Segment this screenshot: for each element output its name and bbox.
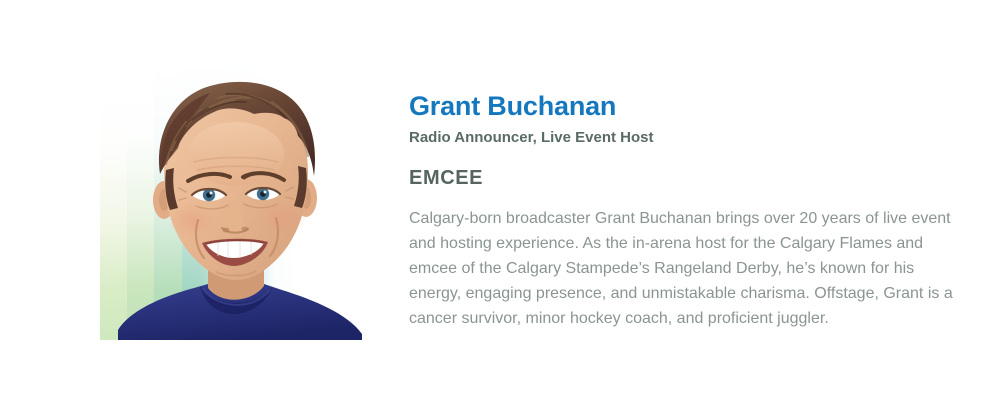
section-heading-emcee: EMCEE bbox=[409, 166, 954, 190]
speaker-bio-card: Grant Buchanan Radio Announcer, Live Eve… bbox=[0, 0, 1000, 400]
speaker-bio-text: Calgary-born broadcaster Grant Buchanan … bbox=[409, 206, 954, 331]
speaker-photo bbox=[100, 62, 372, 340]
portrait-image bbox=[100, 62, 372, 340]
speaker-details: Grant Buchanan Radio Announcer, Live Eve… bbox=[409, 90, 954, 331]
speaker-role: Radio Announcer, Live Event Host bbox=[409, 128, 954, 148]
speaker-name: Grant Buchanan bbox=[409, 90, 954, 122]
